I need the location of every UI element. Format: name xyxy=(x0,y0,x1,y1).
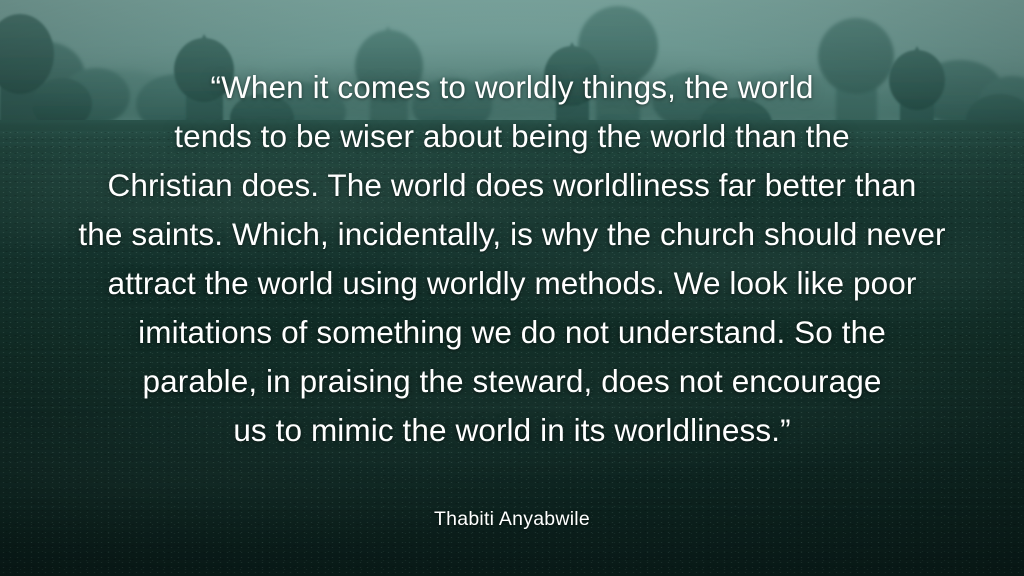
quote-text: “When it comes to worldly things, the wo… xyxy=(52,63,972,455)
quote-graphic: “When it comes to worldly things, the wo… xyxy=(0,0,1024,576)
text-content: “When it comes to worldly things, the wo… xyxy=(0,0,1024,576)
quote-attribution: Thabiti Anyabwile xyxy=(0,508,1024,531)
